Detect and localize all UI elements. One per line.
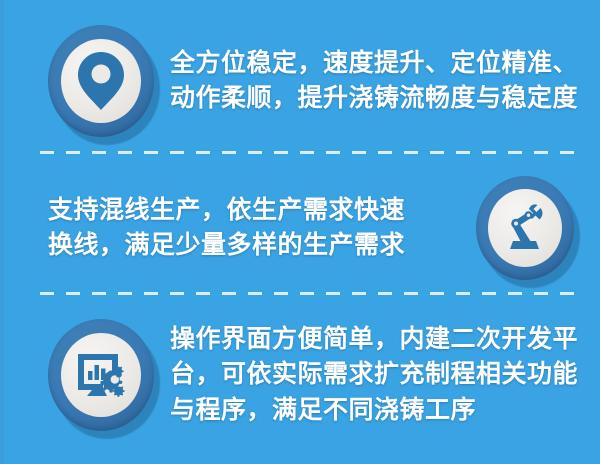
feature-1-line-1: 全方位稳定，速度提升、定位精准、 xyxy=(170,46,594,82)
feature-1-icon-badge xyxy=(48,25,154,137)
feature-2-icon-badge xyxy=(476,176,574,280)
divider-2 xyxy=(40,292,574,295)
feature-item-1: 全方位稳定，速度提升、定位精准、 动作柔顺，提升浇铸流畅度与稳定度 xyxy=(0,18,600,144)
feature-2-line-1: 支持混线生产，依生产需求快速 xyxy=(48,193,460,229)
feature-3-line-2: 台，可依实际需求扩充制程相关功能 xyxy=(170,357,594,393)
feature-3-line-3: 与程序，满足不同浇铸工序 xyxy=(170,393,594,429)
robotic-arm-icon xyxy=(500,203,550,253)
badge-face xyxy=(61,333,141,417)
badge-face xyxy=(488,189,562,267)
monitor-gears-icon xyxy=(74,350,128,400)
feature-1-text: 全方位稳定，速度提升、定位精准、 动作柔顺，提升浇铸流畅度与稳定度 xyxy=(154,46,600,117)
feature-3-line-1: 操作界面方便简单，内建二次开发平 xyxy=(170,322,594,358)
feature-item-2: 支持混线生产，依生产需求快速 换线，满足少量多样的生产需求 xyxy=(0,168,600,288)
feature-2-text: 支持混线生产，依生产需求快速 换线，满足少量多样的生产需求 xyxy=(0,193,476,264)
divider-1 xyxy=(40,151,574,154)
feature-2-line-2: 换线，满足少量多样的生产需求 xyxy=(48,228,460,264)
feature-item-3: 操作界面方便简单，内建二次开发平 台，可依实际需求扩充制程相关功能 与程序，满足… xyxy=(0,305,600,445)
badge-face xyxy=(61,39,141,123)
feature-3-text: 操作界面方便简单，内建二次开发平 台，可依实际需求扩充制程相关功能 与程序，满足… xyxy=(154,322,600,429)
feature-1-line-2: 动作柔顺，提升浇铸流畅度与稳定度 xyxy=(170,81,594,117)
feature-3-icon-badge xyxy=(48,319,154,431)
location-pin-icon xyxy=(76,50,126,112)
feature-infographic: 全方位稳定，速度提升、定位精准、 动作柔顺，提升浇铸流畅度与稳定度 xyxy=(0,0,600,464)
